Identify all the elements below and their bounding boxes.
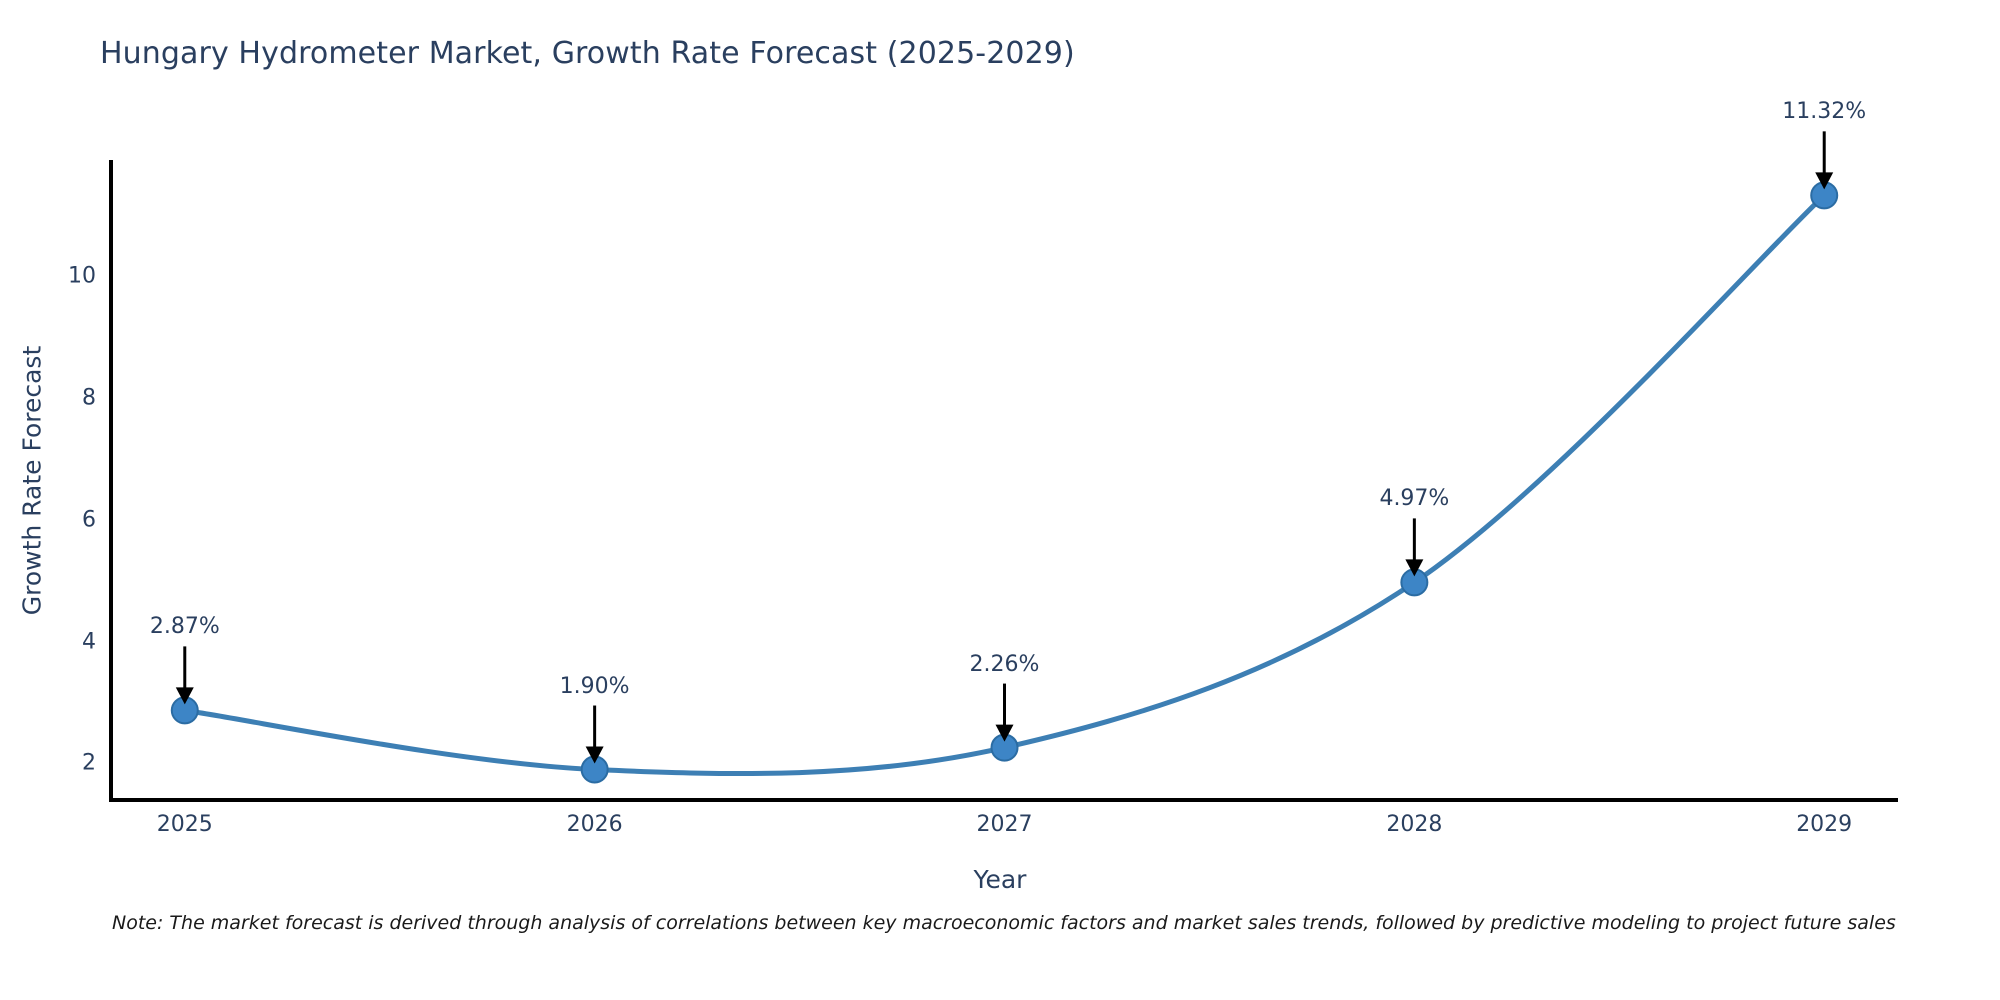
x-axis-tick-label: 2026 [567, 812, 623, 837]
data-point-value-label: 1.90% [560, 674, 630, 699]
y-axis-tick-label: 10 [50, 263, 96, 288]
y-axis-title: Growth Rate Forecast [18, 221, 47, 741]
chart-footnote: Note: The market forecast is derived thr… [112, 912, 2000, 934]
x-axis-title: Year [0, 865, 2000, 894]
x-axis-tick-label: 2028 [1386, 812, 1442, 837]
y-axis-tick-label: 4 [50, 629, 96, 654]
y-axis-tick-label: 6 [50, 507, 96, 532]
chart-figure: Hungary Hydrometer Market, Growth Rate F… [0, 0, 2000, 1000]
data-point-value-label: 2.87% [150, 614, 220, 639]
y-axis-tick-label: 2 [50, 751, 96, 776]
x-axis-tick-label: 2029 [1796, 812, 1852, 837]
x-axis-tick-label: 2025 [157, 812, 213, 837]
y-axis-tick-label: 8 [50, 385, 96, 410]
data-point-value-label: 4.97% [1379, 486, 1449, 511]
x-axis-tick-label: 2027 [977, 812, 1033, 837]
data-point-value-label: 2.26% [970, 652, 1040, 677]
plot-area [0, 0, 2000, 1000]
data-point-value-label: 11.32% [1782, 99, 1866, 124]
